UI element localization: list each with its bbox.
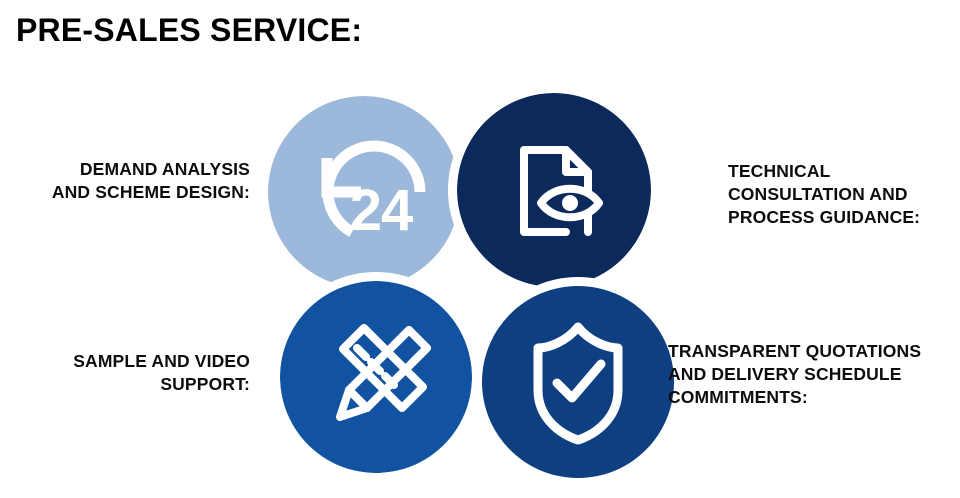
- label-sample-video-support: SAMPLE AND VIDEO SUPPORT:: [10, 350, 250, 396]
- label-demand-analysis: DEMAND ANALYSIS AND SCHEME DESIGN:: [10, 158, 250, 204]
- label-line: AND SCHEME DESIGN:: [10, 181, 250, 204]
- icon-label-24: 24: [350, 178, 413, 243]
- label-line: SAMPLE AND VIDEO: [10, 350, 250, 373]
- circle-transparent-quotations: [482, 286, 674, 478]
- label-line: CONSULTATION AND: [728, 183, 950, 206]
- circle-cluster: 24: [0, 0, 960, 498]
- label-transparent-quotations: TRANSPARENT QUOTATIONS AND DELIVERY SCHE…: [668, 340, 956, 408]
- label-line: AND DELIVERY SCHEDULE: [668, 363, 956, 386]
- label-line: TECHNICAL: [728, 160, 950, 183]
- label-line: DEMAND ANALYSIS: [10, 158, 250, 181]
- label-line: SUPPORT:: [10, 373, 250, 396]
- label-technical-consultation: TECHNICAL CONSULTATION AND PROCESS GUIDA…: [728, 160, 950, 228]
- pre-sales-service-infographic: PRE-SALES SERVICE:: [0, 0, 960, 498]
- label-line: PROCESS GUIDANCE:: [728, 206, 950, 229]
- label-line: COMMITMENTS:: [668, 386, 956, 409]
- label-line: TRANSPARENT QUOTATIONS: [668, 340, 956, 363]
